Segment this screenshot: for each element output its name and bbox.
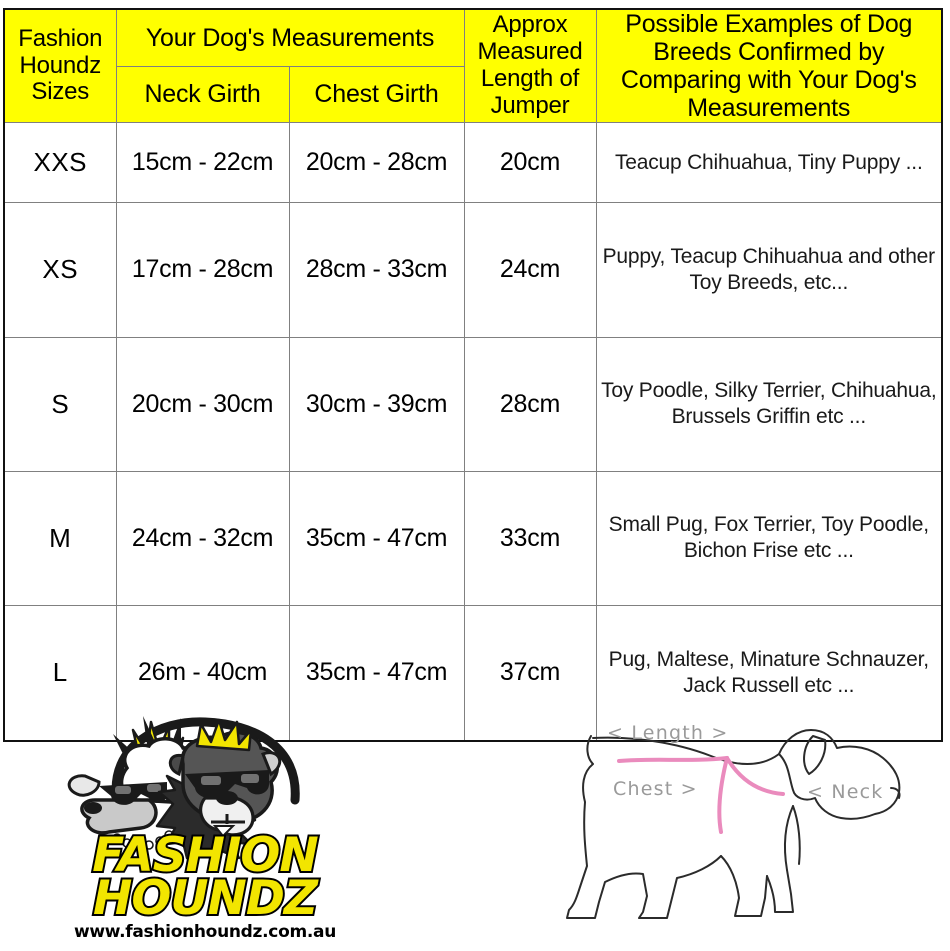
logo-name-line-2: HOUNDZ [55, 877, 355, 920]
cell-breeds: Small Pug, Fox Terrier, Toy Poodle, Bich… [596, 471, 942, 605]
logo-wordmark: FASHION HOUNDZ www.fashionhoundz.com.au [55, 834, 355, 942]
cell-neck-girth: 20cm - 30cm [116, 337, 289, 471]
diagram-label-chest: Chest > [613, 778, 698, 800]
header-approx-measured-length: Approx Measured Length of Jumper [464, 9, 596, 123]
header-chest-girth: Chest Girth [289, 66, 464, 122]
cell-size: XXS [4, 123, 116, 203]
cell-neck-girth: 17cm - 28cm [116, 203, 289, 337]
cell-breeds: Toy Poodle, Silky Terrier, Chihuahua, Br… [596, 337, 942, 471]
table-row: XS 17cm - 28cm 28cm - 33cm 24cm Puppy, T… [4, 203, 942, 337]
length-measure-line [619, 758, 727, 761]
cell-length: 28cm [464, 337, 596, 471]
cell-size: XS [4, 203, 116, 337]
header-your-dogs-measurements: Your Dog's Measurements [116, 9, 464, 66]
header-fashion-houndz-sizes: Fashion Houndz Sizes [4, 9, 116, 123]
cell-breeds: Puppy, Teacup Chihuahua and other Toy Br… [596, 203, 942, 337]
cell-length: 33cm [464, 471, 596, 605]
cell-chest-girth: 30cm - 39cm [289, 337, 464, 471]
dog-outline-icon [535, 706, 945, 946]
cell-length: 20cm [464, 123, 596, 203]
cell-chest-girth: 20cm - 28cm [289, 123, 464, 203]
logo-website-url: www.fashionhoundz.com.au [55, 922, 355, 942]
fashion-houndz-logo: FASHION HOUNDZ www.fashionhoundz.com.au [55, 712, 355, 944]
cell-breeds: Teacup Chihuahua, Tiny Puppy ... [596, 123, 942, 203]
dog-measurement-diagram: < Length > Chest > < Neck [535, 706, 945, 946]
header-neck-girth: Neck Girth [116, 66, 289, 122]
table-row: XXS 15cm - 22cm 20cm - 28cm 20cm Teacup … [4, 123, 942, 203]
cell-neck-girth: 24cm - 32cm [116, 471, 289, 605]
table-row: M 24cm - 32cm 35cm - 47cm 33cm Small Pug… [4, 471, 942, 605]
cell-chest-girth: 35cm - 47cm [289, 471, 464, 605]
cell-size: M [4, 471, 116, 605]
table-header: Fashion Houndz Sizes Your Dog's Measurem… [4, 9, 942, 123]
cell-chest-girth: 28cm - 33cm [289, 203, 464, 337]
cell-size: S [4, 337, 116, 471]
diagram-label-neck: < Neck [807, 781, 884, 803]
cell-neck-girth: 15cm - 22cm [116, 123, 289, 203]
size-chart-table: Fashion Houndz Sizes Your Dog's Measurem… [3, 8, 943, 742]
table-body: XXS 15cm - 22cm 20cm - 28cm 20cm Teacup … [4, 123, 942, 742]
header-possible-breeds: Possible Examples of Dog Breeds Confirme… [596, 9, 942, 123]
header-row-top: Fashion Houndz Sizes Your Dog's Measurem… [4, 9, 942, 66]
cell-length: 24cm [464, 203, 596, 337]
diagram-label-length: < Length > [607, 722, 728, 744]
table-row: S 20cm - 30cm 30cm - 39cm 28cm Toy Poodl… [4, 337, 942, 471]
chest-measure-line [719, 758, 727, 832]
